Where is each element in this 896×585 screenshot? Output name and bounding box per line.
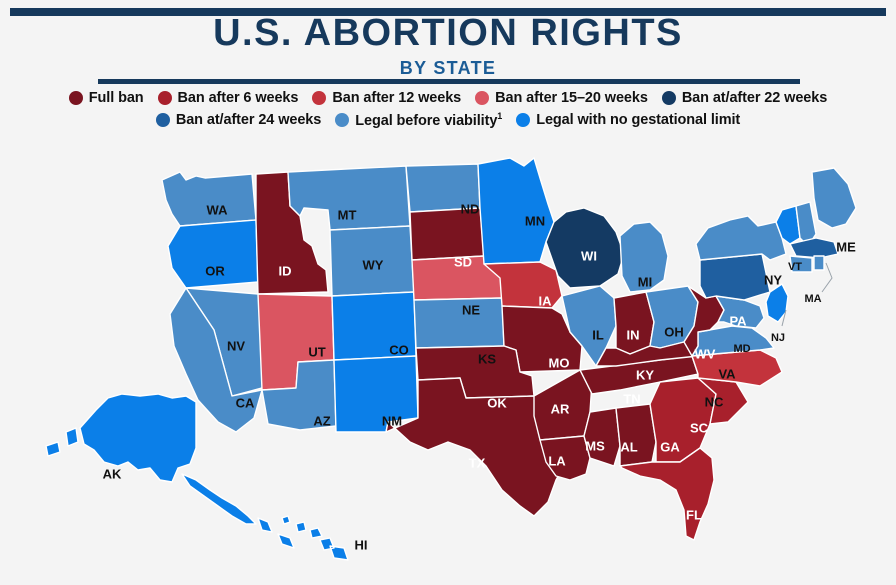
legend-label: Ban after 6 weeks [178, 90, 299, 106]
state-NM[interactable] [334, 356, 418, 432]
state-MD[interactable] [716, 296, 764, 328]
state-KS[interactable] [414, 298, 504, 348]
legend-swatch-icon [312, 91, 326, 105]
legend-label: Full ban [89, 90, 144, 106]
legend-swatch-icon [69, 91, 83, 105]
legend-row-2: Ban at/after 24 weeks Legal before viabi… [0, 111, 896, 129]
state-label-ME: ME [836, 239, 856, 254]
legend-swatch-icon [158, 91, 172, 105]
infographic-root: U.S. ABORTION RIGHTS BY STATE Full ban B… [0, 0, 896, 585]
state-MI[interactable] [620, 222, 668, 292]
state-AR[interactable] [534, 370, 592, 440]
state-label-TN: TN [623, 391, 640, 406]
state-SD[interactable] [410, 208, 484, 260]
legend-swatch-icon [156, 113, 170, 127]
state-WA[interactable] [162, 172, 256, 226]
legend-swatch-icon [475, 91, 489, 105]
legend-swatch-icon [662, 91, 676, 105]
legend-label: Ban at/after 24 weeks [176, 112, 321, 128]
state-ND[interactable] [406, 164, 480, 212]
state-HI[interactable] [282, 516, 348, 560]
state-MS[interactable] [584, 408, 620, 466]
legend: Full ban Ban after 6 weeks Ban after 12 … [0, 90, 896, 129]
state-OR[interactable] [168, 220, 258, 288]
legend-item-legal-no-gestational-limit[interactable]: Legal with no gestational limit [516, 112, 740, 128]
legend-item-ban-24-weeks[interactable]: Ban at/after 24 weeks [156, 112, 321, 128]
page-title: U.S. ABORTION RIGHTS [0, 14, 896, 54]
legend-item-ban-6-weeks[interactable]: Ban after 6 weeks [158, 90, 299, 106]
state-WY[interactable] [330, 226, 414, 296]
page-subtitle: BY STATE [0, 58, 896, 79]
state-AK[interactable] [46, 394, 294, 548]
legend-item-ban-15-20-weeks[interactable]: Ban after 15–20 weeks [475, 90, 648, 106]
legend-swatch-icon [516, 113, 530, 127]
us-map-svg: WA OR ID MT WY NV UT CA CO AZ NM ND SD N… [0, 150, 896, 585]
state-GA[interactable] [650, 378, 716, 462]
legend-item-ban-12-weeks[interactable]: Ban after 12 weeks [312, 90, 461, 106]
title-block: U.S. ABORTION RIGHTS BY STATE [0, 14, 896, 79]
state-ME[interactable] [812, 168, 856, 228]
state-CT[interactable] [790, 256, 812, 272]
legend-label: Legal before viability1 [355, 111, 502, 129]
state-PA[interactable] [700, 254, 770, 300]
state-label-NJ: NJ [771, 332, 785, 344]
legend-item-ban-22-weeks[interactable]: Ban at/after 22 weeks [662, 90, 827, 106]
state-AL[interactable] [616, 404, 656, 466]
state-RI[interactable] [814, 256, 824, 270]
legend-swatch-icon [335, 113, 349, 127]
state-WI[interactable] [546, 208, 624, 288]
state-NY[interactable] [696, 216, 786, 260]
legend-label: Ban after 15–20 weeks [495, 90, 648, 106]
state-MA[interactable] [790, 238, 838, 258]
legend-label: Ban at/after 22 weeks [682, 90, 827, 106]
legend-row-1: Full ban Ban after 6 weeks Ban after 12 … [0, 90, 896, 106]
title-divider [98, 79, 800, 84]
legend-label-text: Legal before viability [355, 113, 497, 129]
us-map: WA OR ID MT WY NV UT CA CO AZ NM ND SD N… [0, 150, 896, 585]
state-label-HI: HI [355, 537, 368, 552]
state-label-MA: MA [804, 293, 821, 305]
legend-footnote-marker: 1 [497, 111, 502, 121]
state-CO[interactable] [332, 292, 416, 360]
legend-item-full-ban[interactable]: Full ban [69, 90, 144, 106]
state-MT[interactable] [288, 166, 410, 230]
legend-label: Legal with no gestational limit [536, 112, 740, 128]
state-MN[interactable] [478, 158, 554, 264]
legend-item-legal-before-viability[interactable]: Legal before viability1 [335, 111, 502, 129]
legend-label: Ban after 12 weeks [332, 90, 461, 106]
state-label-AK: AK [103, 466, 122, 481]
